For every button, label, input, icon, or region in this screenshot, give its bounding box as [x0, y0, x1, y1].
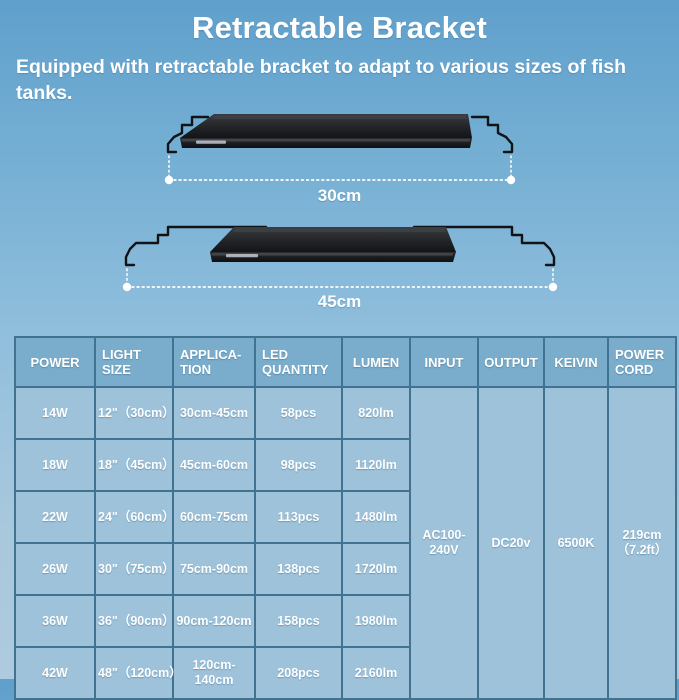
- column-header-lumen: LUMEN: [343, 338, 409, 386]
- header-line: KEIVIN: [554, 355, 597, 370]
- cell-led-quantity: 113pcs: [256, 492, 341, 542]
- cell-light-size: 36"（90cm）: [96, 596, 172, 646]
- header-line: OUTPUT: [484, 355, 537, 370]
- header-line-2: TION: [180, 362, 252, 377]
- cell-lumen: 1120lm: [343, 440, 409, 490]
- dimension-label-retracted: 30cm: [0, 186, 679, 206]
- cell-power-cord-merged: 219cm （7.2ft）: [609, 388, 675, 698]
- header-line-2: SIZE: [102, 362, 170, 377]
- header-line-1: LIGHT: [102, 347, 170, 362]
- measurement-endpoint-right: [549, 283, 557, 291]
- brand-logo: [226, 254, 258, 257]
- header-line-1: POWER: [615, 347, 673, 362]
- lamp-top-sheen: [233, 229, 446, 233]
- measurement-endpoint-right: [507, 176, 515, 184]
- measurement-endpoint-left: [123, 283, 131, 291]
- cell-keivin-merged: 6500K: [545, 388, 607, 698]
- header-line-2: QUANTITY: [262, 362, 339, 377]
- bracket-leg-right: [472, 117, 512, 152]
- cell-led-quantity: 208pcs: [256, 648, 341, 698]
- cell-application: 75cm-90cm: [174, 544, 254, 594]
- spec-table: POWER LIGHT SIZE APPLICA- TION LED QUANT…: [14, 336, 677, 700]
- column-header-led-quantity: LED QUANTITY: [256, 338, 341, 386]
- cell-light-size: 12"（30cm）: [96, 388, 172, 438]
- input-line-1: AC100-: [413, 528, 475, 543]
- cell-lumen: 1720lm: [343, 544, 409, 594]
- spec-table-container: POWER LIGHT SIZE APPLICA- TION LED QUANT…: [14, 336, 665, 700]
- cell-input-merged: AC100- 240V: [411, 388, 477, 698]
- measurement-guides: [127, 269, 553, 285]
- header-line: INPUT: [425, 355, 464, 370]
- page-subtitle: Equipped with retractable bracket to ada…: [16, 54, 668, 106]
- cell-power: 26W: [16, 544, 94, 594]
- lamp-top-sheen: [212, 116, 467, 120]
- header-line-1: APPLICA-: [180, 347, 252, 362]
- power-cord-line-1: 219cm: [611, 528, 673, 543]
- cell-power: 14W: [16, 388, 94, 438]
- product-illustration-retracted: [120, 100, 560, 200]
- header-line-2: CORD: [615, 362, 673, 377]
- column-header-keivin: KEIVIN: [545, 338, 607, 386]
- column-header-application: APPLICA- TION: [174, 338, 254, 386]
- infographic-page: Retractable Bracket Equipped with retrac…: [0, 0, 679, 679]
- cell-lumen: 1480lm: [343, 492, 409, 542]
- column-header-light-size: LIGHT SIZE: [96, 338, 172, 386]
- cell-application: 90cm-120cm: [174, 596, 254, 646]
- brand-logo: [196, 141, 226, 144]
- cell-led-quantity: 98pcs: [256, 440, 341, 490]
- cell-output-merged: DC20v: [479, 388, 543, 698]
- power-cord-line-2: （7.2ft）: [611, 543, 673, 558]
- page-title: Retractable Bracket: [0, 10, 679, 46]
- cell-application: 60cm-75cm: [174, 492, 254, 542]
- column-header-power-cord: POWER CORD: [609, 338, 675, 386]
- cell-application: 45cm-60cm: [174, 440, 254, 490]
- column-header-output: OUTPUT: [479, 338, 543, 386]
- cell-power: 18W: [16, 440, 94, 490]
- measurement-guides: [169, 156, 511, 178]
- column-header-power: POWER: [16, 338, 94, 386]
- cell-lumen: 1980lm: [343, 596, 409, 646]
- measurement-endpoint-left: [165, 176, 173, 184]
- cell-light-size: 48"（120cm）: [96, 648, 172, 698]
- cell-power: 42W: [16, 648, 94, 698]
- cell-light-size: 18"（45cm）: [96, 440, 172, 490]
- table-row: 14W 12"（30cm） 30cm-45cm 58pcs 820lm AC10…: [16, 388, 675, 438]
- cell-application: 120cm-140cm: [174, 648, 254, 698]
- cell-led-quantity: 138pcs: [256, 544, 341, 594]
- header-line-1: LED: [262, 347, 339, 362]
- cell-lumen: 2160lm: [343, 648, 409, 698]
- cell-led-quantity: 158pcs: [256, 596, 341, 646]
- cell-light-size: 24"（60cm）: [96, 492, 172, 542]
- input-line-2: 240V: [413, 543, 475, 558]
- table-header-row: POWER LIGHT SIZE APPLICA- TION LED QUANT…: [16, 338, 675, 386]
- header-line: POWER: [30, 355, 79, 370]
- header-line: LUMEN: [353, 355, 399, 370]
- cell-power: 36W: [16, 596, 94, 646]
- cell-application: 30cm-45cm: [174, 388, 254, 438]
- dimension-label-extended: 45cm: [0, 292, 679, 312]
- cell-power: 22W: [16, 492, 94, 542]
- cell-lumen: 820lm: [343, 388, 409, 438]
- column-header-input: INPUT: [411, 338, 477, 386]
- cell-led-quantity: 58pcs: [256, 388, 341, 438]
- cell-light-size: 30"（75cm）: [96, 544, 172, 594]
